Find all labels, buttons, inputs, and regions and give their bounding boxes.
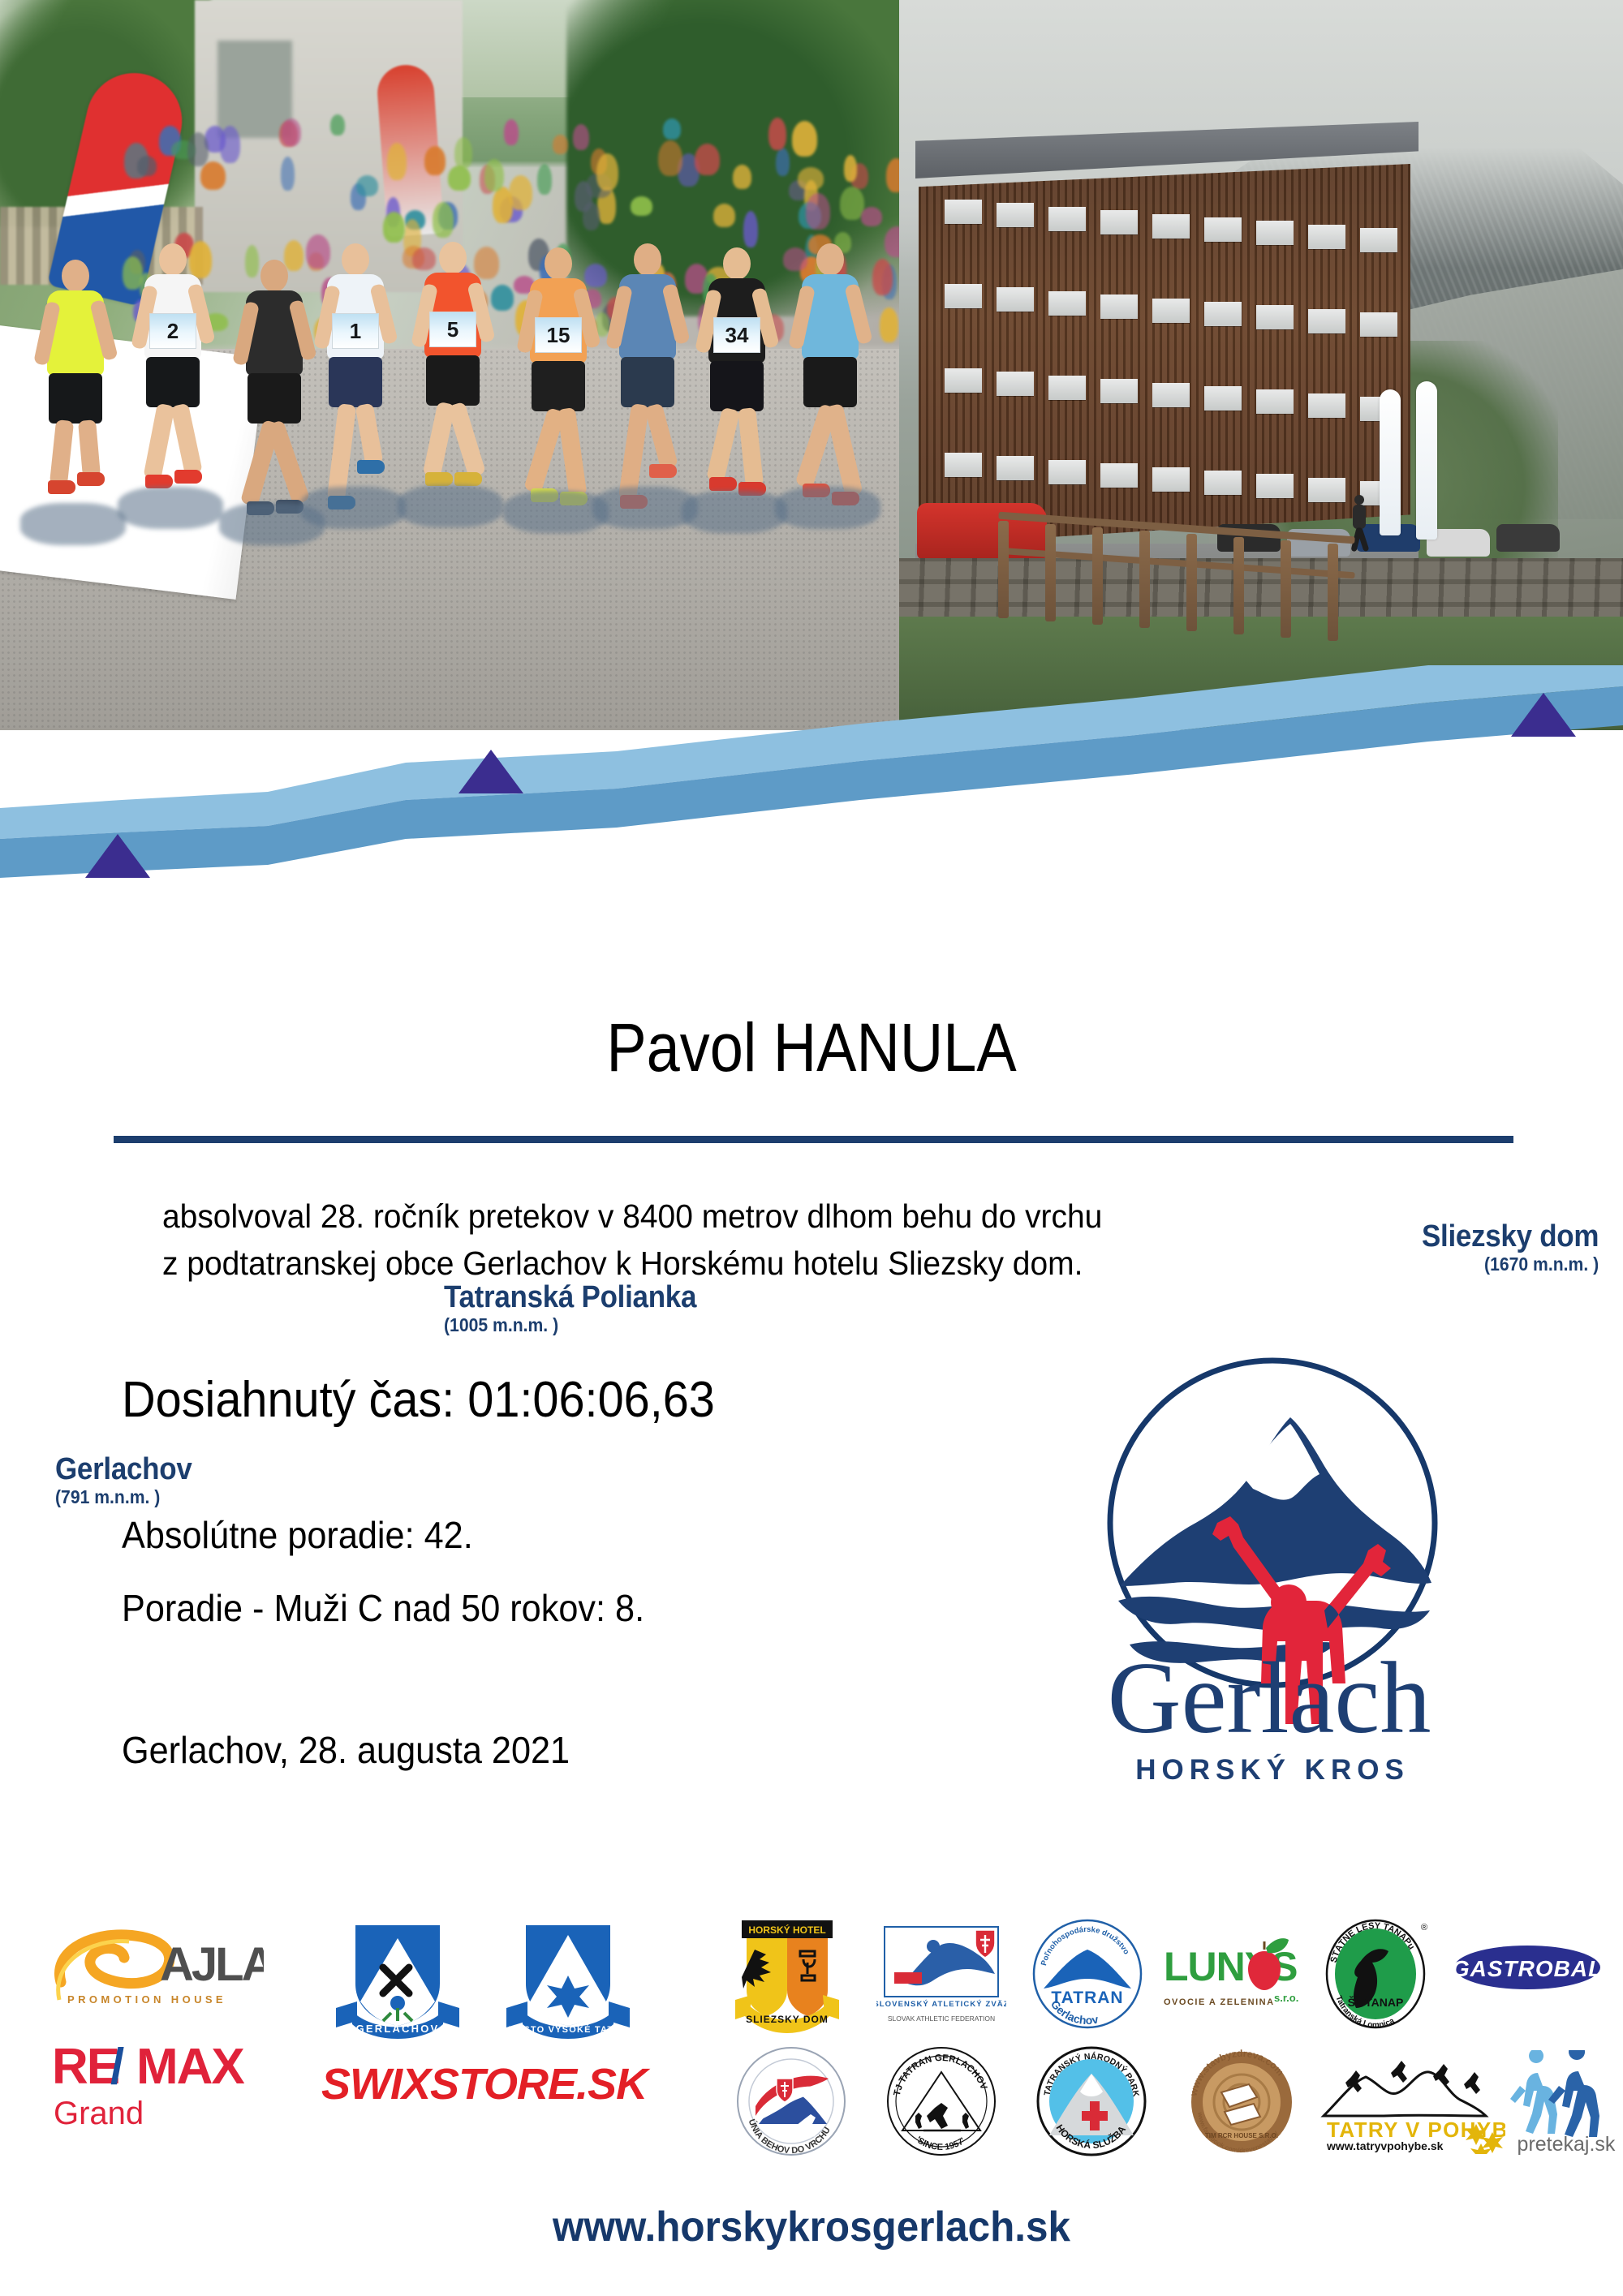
- runner-leg-left: [618, 403, 649, 501]
- wooden-bridge-railing: [998, 503, 1355, 665]
- hotel-window: [945, 200, 982, 224]
- runner-shorts: [710, 361, 764, 411]
- runner-head: [723, 247, 751, 280]
- hotel-window: [1308, 393, 1345, 418]
- stavbyzdreva-company: TIM RCR HOUSE S.R.O.: [1205, 2132, 1278, 2139]
- remax-slash: /: [110, 2039, 124, 2095]
- sponsor-logo-swixstore: SWIXSTORE.SK: [316, 2057, 665, 2113]
- sponsor-logo-remax: RE / MAX Grand: [49, 2036, 260, 2134]
- hotel-window: [997, 372, 1034, 396]
- runner-shoe-right: [357, 460, 385, 474]
- hotel-window: [1360, 312, 1397, 337]
- runner-leg-right: [824, 403, 863, 497]
- runner-leg-right: [644, 403, 678, 471]
- lunys-tagline: OVOCIE A ZELENINA: [1164, 1997, 1275, 2007]
- runner: 1: [325, 243, 386, 511]
- runner-shadow: [300, 487, 406, 529]
- elevation-band-svg: [0, 665, 1623, 941]
- hotel-window: [997, 456, 1034, 480]
- parked-car: [1496, 524, 1560, 552]
- runner-shadow: [398, 485, 503, 527]
- saf-name-en: SLOVAK ATHLETIC FEDERATION: [888, 2014, 995, 2023]
- title-divider: [114, 1136, 1513, 1143]
- sponsor-logo-tatran-gerlachov: TATRAN Poľnohospodárske družstvo Gerlach…: [1031, 1917, 1144, 2031]
- runner-shoe-right: [77, 472, 105, 486]
- absolute-ranking: Absolútne poradie: 42.: [122, 1513, 473, 1557]
- runner-shoe-left: [425, 472, 453, 486]
- runner-leg-right: [78, 419, 101, 478]
- runner: [799, 243, 861, 511]
- runner: [243, 260, 305, 527]
- runner-shorts: [248, 373, 301, 424]
- runner-head: [816, 243, 844, 276]
- runner-leg-right: [738, 407, 764, 488]
- checkpoint-label-gerlachov: Gerlachov (791 m.n.m. ): [55, 1454, 204, 1507]
- runner-leg-left: [143, 403, 174, 480]
- tvp-runner-2: [1391, 2061, 1407, 2083]
- checkpoint-label-tatranska-polianka: Tatranská Polianka (1005 m.n.m. ): [444, 1282, 718, 1335]
- description-line-1: absolvoval 28. ročník pretekov v 8400 me…: [162, 1193, 1411, 1240]
- sponsor-logo-vysoke-tatry: MESTO VYSOKÉ TATRY: [503, 1917, 633, 2039]
- runner-leg-right: [447, 402, 486, 478]
- sponsor-logo-slovak-athletic-federation: SLOVENSKÝ ATLETICKÝ ZVÄZ SLOVAK ATHLETIC…: [876, 1922, 1006, 2027]
- runner-head: [260, 260, 288, 292]
- runner: [617, 243, 678, 511]
- runner-head: [159, 243, 187, 276]
- runner-shadow: [682, 491, 787, 533]
- runner-head: [439, 242, 467, 274]
- gerlach-horsky-kros-logo: Gerlach HORSKÝ KROS: [1045, 1343, 1500, 1813]
- runner-leg-right: [170, 403, 203, 476]
- runner-bib-number: 1: [332, 313, 379, 349]
- runner-bib-number: 34: [713, 317, 760, 353]
- finish-time: Dosiahnutý čas: 01:06:06,63: [122, 1371, 715, 1429]
- bridge-post: [1233, 537, 1244, 634]
- athlete-name: Pavol HANULA: [97, 1008, 1526, 1087]
- hotel-window: [1100, 379, 1138, 403]
- runner-leg-right: [266, 419, 311, 505]
- logo-subtitle: HORSKÝ KROS: [1135, 1753, 1410, 1786]
- runner: 34: [706, 247, 768, 515]
- runner-shoe-left: [709, 477, 737, 491]
- hotel-window: [1204, 386, 1242, 411]
- hotel-window: [1256, 305, 1294, 329]
- hotel-window: [1308, 478, 1345, 502]
- runner-shorts: [621, 357, 674, 407]
- event-flag-banner-2: [1416, 381, 1437, 540]
- saf-red-bar: [894, 1972, 922, 1984]
- elevation-band-light: [0, 665, 1623, 839]
- tanap-registered-mark: ®: [1421, 1923, 1427, 1933]
- sponsor-logo-sliezsky-dom: HORSKÝ HOTEL SLIEZSKY DOM: [730, 1915, 844, 2037]
- hotel-window: [1308, 225, 1345, 249]
- tvp-runner-3: [1433, 2064, 1449, 2086]
- runner-bib-number: 5: [429, 312, 476, 347]
- runner-leg-right: [558, 407, 588, 497]
- runner-shorts: [146, 357, 200, 407]
- bridge-post: [998, 521, 1009, 618]
- hotel-window: [1152, 383, 1190, 407]
- elevation-band-mid: [0, 686, 1623, 878]
- hotel-window: [1048, 291, 1086, 316]
- hotel-window: [1048, 376, 1086, 400]
- sponsor-logo-tatry-v-pohybe: TATRY V POHYBE www.tatryvpohybe.sk: [1319, 2053, 1505, 2154]
- runner: 5: [422, 242, 484, 510]
- checkpoint-altitude: (1005 m.n.m. ): [444, 1316, 696, 1335]
- category-ranking: Poradie - Muži C nad 50 rokov: 8.: [122, 1586, 644, 1630]
- description-line-2: z podtatranskej obce Gerlachov k Horském…: [162, 1240, 1411, 1287]
- hotel-banner-text: HORSKÝ HOTEL: [748, 1924, 825, 1936]
- ajla-tagline: PROMOTION HOUSE: [67, 1993, 226, 2006]
- runner-shorts: [532, 361, 585, 411]
- sponsor-logo-lunys: LUNYS s.r.o. OVOCIE A ZELENINA: [1160, 1930, 1307, 2019]
- runner-shorts: [803, 357, 857, 407]
- sponsor-logo-unia-behov-do-vrchu: ÚNIA BEHOV DO VRCHU: [734, 2044, 848, 2158]
- saf-name-sk: SLOVENSKÝ ATLETICKÝ ZVÄZ: [876, 1999, 1006, 2009]
- checkpoint-altitude: (791 m.n.m. ): [55, 1488, 192, 1507]
- runner-leg-left: [50, 419, 74, 486]
- bridge-post: [1045, 524, 1056, 621]
- runner-leg-right: [355, 403, 384, 467]
- hotel-window: [1100, 210, 1138, 234]
- hotel-window: [1256, 474, 1294, 498]
- runner-shoe-right: [649, 464, 677, 478]
- ajla-wordmark: AJLA: [160, 1938, 264, 1991]
- runner-leg-left: [706, 407, 740, 484]
- pretekaj-runner-light: [1510, 2050, 1557, 2134]
- swixstore-wordmark: SWIXSTORE.SK: [321, 2060, 651, 2109]
- photo-band: 2151534: [0, 0, 1623, 730]
- sponsor-logo-ajla: AJLA PROMOTION HOUSE: [45, 1925, 264, 2014]
- hotel-window: [1308, 309, 1345, 333]
- bridge-post: [1328, 544, 1338, 641]
- hotel-window: [997, 287, 1034, 312]
- hotel-name: SLIEZSKY DOM: [746, 2014, 829, 2025]
- lunys-sro: s.r.o.: [1274, 1992, 1298, 2004]
- website-url: www.horskykrosgerlach.sk: [41, 2203, 1582, 2251]
- crest-name: GERLACHOV: [356, 2023, 440, 2035]
- hotel-shield-right: [787, 1938, 828, 2016]
- bridge-post: [1281, 540, 1291, 638]
- runner: [45, 260, 106, 527]
- tvp-url: www.tatryvpohybe.sk: [1326, 2139, 1444, 2152]
- pretekaj-wordmark: pretekaj.sk: [1518, 2133, 1616, 2156]
- bridge-post: [1186, 534, 1197, 631]
- checkpoint-name: Gerlachov: [55, 1454, 192, 1485]
- runner-shadow: [118, 487, 223, 529]
- sponsor-logo-tj-tatran-gerlachov: TJ TATRAN GERLACHOV 'SINCE 1957': [885, 2044, 998, 2158]
- hotel-window: [1360, 228, 1397, 252]
- runner-shorts: [329, 357, 382, 407]
- hotel-window: [1048, 207, 1086, 231]
- spectator-crowd: [114, 114, 899, 333]
- hotel-window: [1204, 217, 1242, 242]
- hotel-window: [1152, 214, 1190, 239]
- runner-shadow: [20, 503, 126, 545]
- tvp-runner-4: [1464, 2072, 1480, 2094]
- elevation-profile: Gerlachov (791 m.n.m. ) Tatranská Polian…: [0, 665, 1623, 941]
- sponsor-strip: AJLA PROMOTION HOUSE RE / MAX Grand GERL…: [0, 1911, 1623, 2195]
- hotel-window: [945, 453, 982, 477]
- hotel-window: [1152, 467, 1190, 492]
- hotel-window: [945, 368, 982, 393]
- place-and-date: Gerlachov, 28. augusta 2021: [122, 1728, 570, 1772]
- photo-runners-start: 2151534: [0, 0, 899, 730]
- runner-head: [62, 260, 89, 292]
- crest-name: MESTO VYSOKÉ TATRY: [508, 2024, 627, 2035]
- runner-shorts: [49, 373, 102, 424]
- remax-grand: Grand: [54, 2096, 144, 2131]
- hotel-window: [1100, 463, 1138, 488]
- runner-shorts: [426, 355, 480, 406]
- remax-re: RE: [52, 2039, 118, 2095]
- hotel-window: [1152, 299, 1190, 323]
- sponsor-logo-statne-lesy-tanapu: ŠL TANAP ŠTÁTNE LESY TANAPu Tatranská Lo…: [1319, 1915, 1432, 2033]
- hotel-window: [945, 284, 982, 308]
- sponsor-logo-horska-sluzba: TATRANSKÝ NÁRODNÝ PARK HORSKÁ SLUŽBA: [1035, 2044, 1148, 2158]
- hotel-window: [1048, 460, 1086, 484]
- runner-head: [634, 243, 661, 276]
- sponsor-logo-gerlachov-crest: GERLACHOV: [333, 1917, 463, 2039]
- description-text: absolvoval 28. ročník pretekov v 8400 me…: [162, 1193, 1477, 1287]
- runner-shoe-right: [454, 472, 482, 486]
- hotel-window: [1204, 471, 1242, 495]
- hotel-window: [1204, 302, 1242, 326]
- sponsor-logo-stavbyzdreva: www.stavbyzdreva.com www.facebook.com/dr…: [1181, 2042, 1302, 2162]
- hotel-window: [1100, 295, 1138, 319]
- remax-max: MAX: [136, 2039, 244, 2095]
- runner: 2: [142, 243, 204, 511]
- event-flag-banner: [1380, 389, 1401, 535]
- runner-shadow: [775, 487, 880, 529]
- runner-bib-number: 2: [149, 313, 196, 349]
- logo-wordmark: Gerlach: [1108, 1642, 1431, 1755]
- saf-head: [927, 1940, 940, 1953]
- gastrobal-wordmark: GASTROBAL: [1453, 1956, 1603, 1981]
- runner: 15: [527, 247, 589, 515]
- bridge-post: [1092, 527, 1103, 625]
- tanap-monogram: ŠL TANAP: [1348, 1995, 1404, 2009]
- sponsor-logo-gastrobal: GASTROBAL: [1453, 1938, 1603, 1997]
- hotel-window: [997, 203, 1034, 227]
- runner-head: [342, 243, 369, 276]
- hotel-window: [1256, 389, 1294, 414]
- start-barrier-tape: [0, 325, 265, 600]
- runner-shoe-right: [174, 470, 202, 484]
- bridge-post: [1139, 531, 1150, 628]
- hotel-window: [1256, 221, 1294, 245]
- runner-head: [545, 247, 572, 280]
- runner-bib-number: 15: [535, 317, 582, 353]
- sponsor-logo-pretekaj: pretekaj.sk: [1505, 2050, 1623, 2157]
- runner-shoe-left: [48, 480, 75, 494]
